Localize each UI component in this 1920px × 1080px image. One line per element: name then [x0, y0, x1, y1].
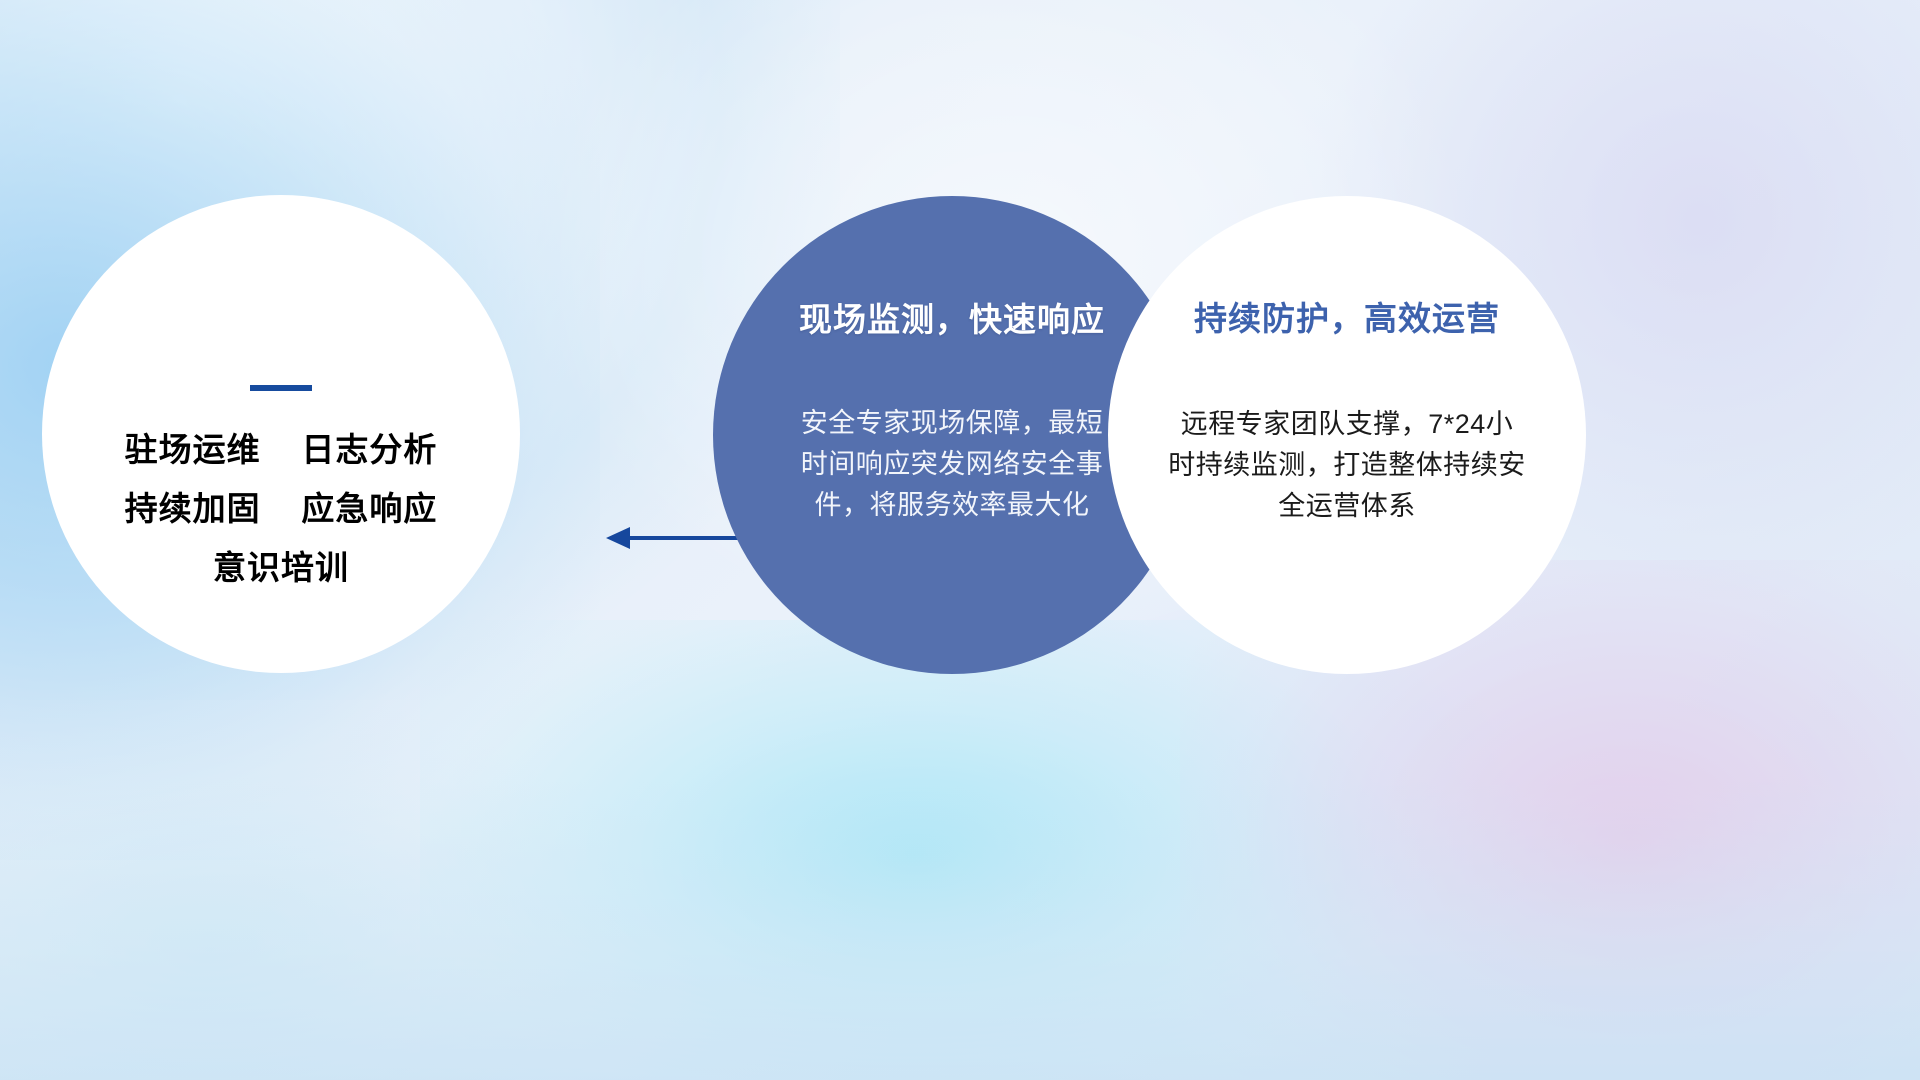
background-bottom-strip	[0, 780, 1920, 1080]
middle-circle-body: 安全专家现场保障，最短时间响应突发网络安全事件，将服务效率最大化	[797, 403, 1107, 526]
middle-circle-content: 现场监测，快速响应 安全专家现场保障，最短时间响应突发网络安全事件，将服务效率最…	[713, 196, 1191, 674]
left-circle[interactable]: 驻场运维 日志分析 持续加固 应急响应 意识培训	[42, 195, 520, 673]
left-circle-line-2: 持续加固 应急响应	[125, 492, 438, 525]
middle-circle-title: 现场监测，快速响应	[799, 293, 1105, 341]
divider-dash-icon	[250, 385, 312, 391]
slide-canvas: 持续防护，高效运营 远程专家团队支撑，7*24小时持续监测，打造整体持续安全运营…	[0, 0, 1920, 1080]
middle-circle-text-layer: 现场监测，快速响应 安全专家现场保障，最短时间响应突发网络安全事件，将服务效率最…	[713, 196, 1191, 674]
left-circle-line-1: 驻场运维 日志分析	[125, 433, 438, 466]
right-circle-body: 远程专家团队支撑，7*24小时持续监测，打造整体持续安全运营体系	[1167, 404, 1527, 527]
right-circle-title: 持续防护，高效运营	[1194, 292, 1500, 340]
left-circle-content: 驻场运维 日志分析 持续加固 应急响应 意识培训	[42, 195, 520, 673]
left-circle-line-3: 意识培训	[213, 551, 349, 584]
